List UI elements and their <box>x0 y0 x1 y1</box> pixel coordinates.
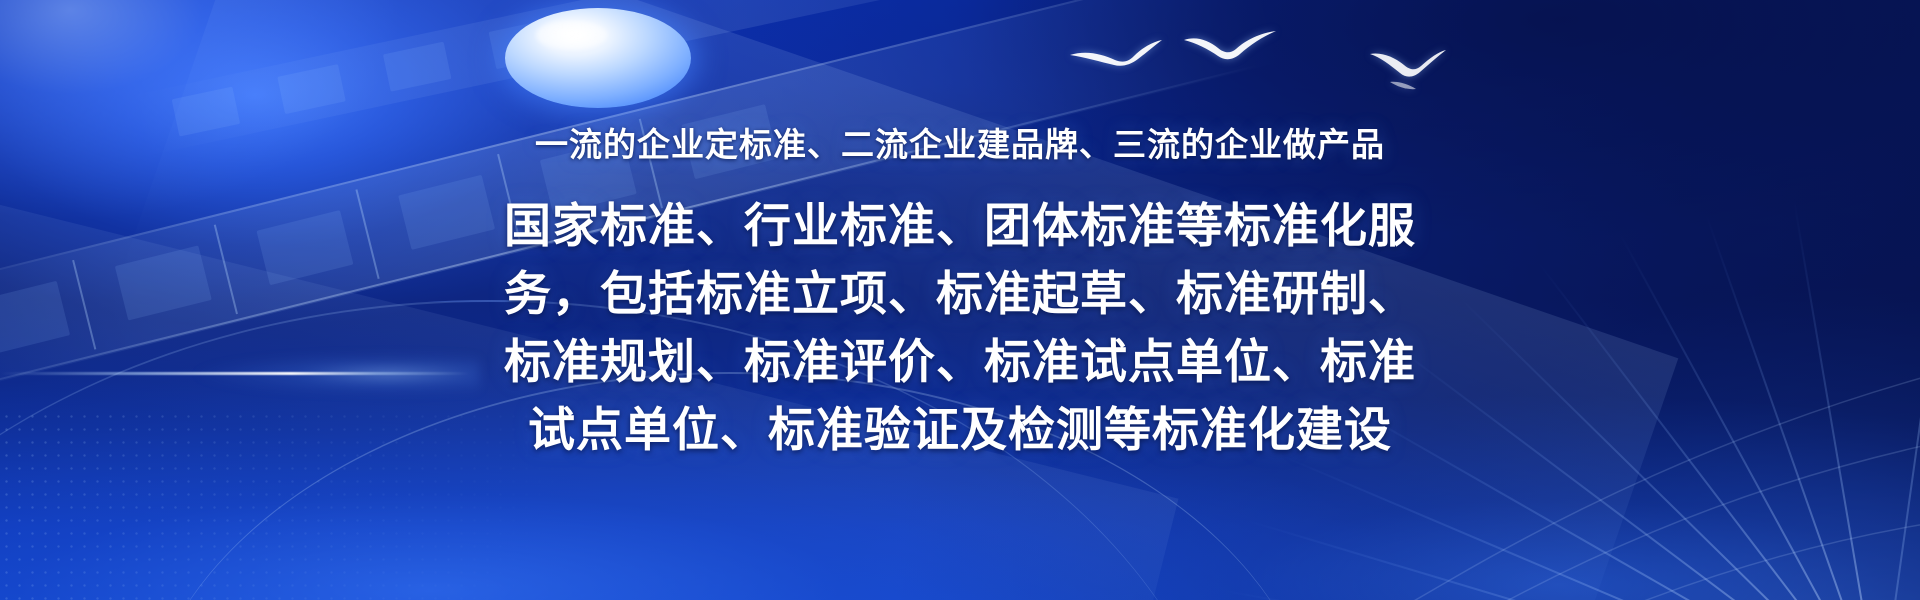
banner-body-line: 标准规划、标准评价、标准试点单位、标准 <box>445 328 1475 396</box>
banner-body-line: 国家标准、行业标准、团体标准等标准化服 <box>445 192 1475 260</box>
banner-content: 一流的企业定标准、二流企业建品牌、三流的企业做产品 国家标准、行业标准、团体标准… <box>0 0 1920 600</box>
banner-body-line: 试点单位、标准验证及检测等标准化建设 <box>445 396 1475 464</box>
banner-body: 国家标准、行业标准、团体标准等标准化服 务，包括标准立项、标准起草、标准研制、 … <box>445 192 1475 464</box>
banner-headline: 一流的企业定标准、二流企业建品牌、三流的企业做产品 <box>535 118 1385 166</box>
banner-root: 一流的企业定标准、二流企业建品牌、三流的企业做产品 国家标准、行业标准、团体标准… <box>0 0 1920 600</box>
banner-body-line: 务，包括标准立项、标准起草、标准研制、 <box>445 260 1475 328</box>
